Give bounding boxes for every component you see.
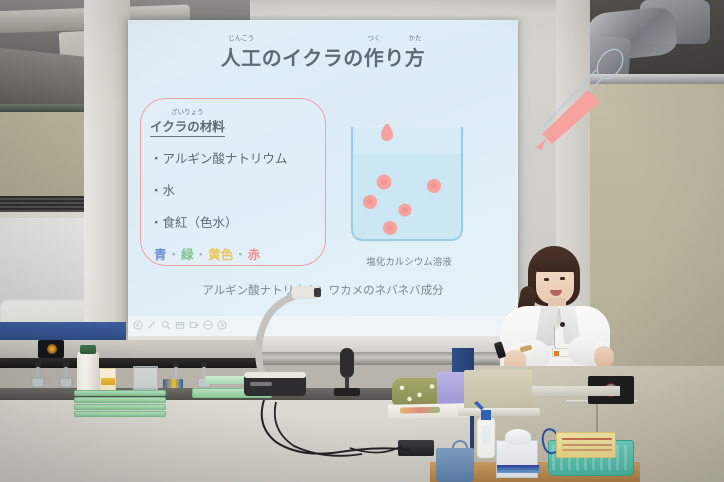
title-segment-1: のイクラの [262,42,364,71]
projection-screen: じんこう 人工 のイクラの つく 作 り かた 方 [128,20,518,336]
title-base-3: り [384,42,405,71]
tray-layer-2 [74,397,166,403]
slide-title: じんこう 人工 のイクラの つく 作 り かた 方 [128,42,518,71]
blue-yellow-package[interactable] [163,379,183,388]
pipette-icon [526,46,636,156]
gas-tap[interactable] [30,362,46,388]
color-label-yellow: 黄色 [208,247,233,262]
powerpoint-show-toolbar[interactable] [130,316,250,334]
ingredient-text-2: 水 [163,183,176,198]
ingredient-item-1: ・アルギン酸ナトリウム [150,148,287,167]
title-segment-3: り [384,42,405,71]
ingredients-heading: ざいりょう イクラの材料 [150,116,225,137]
title-ruby-2: つく [368,32,381,42]
title-base-1: のイクラの [262,42,364,71]
title-ruby-4: かた [409,32,422,42]
zoom-icon[interactable] [161,320,171,330]
cable-bundle [250,396,440,466]
classroom-scene: じんこう 人工 のイクラの つく 作 り かた 方 [0,0,724,482]
beaker-label: 塩化カルシウム溶液 [334,254,484,268]
sign-text-line-2 [562,444,612,446]
color-sep-2: ・ [194,247,209,262]
white-bottle[interactable] [77,352,99,394]
yellow-warning-sign [556,432,616,458]
ingredients-heading-text: イクラの材料 [150,116,225,135]
color-label-red: 赤 [248,247,261,262]
title-segment-2: つく 作 [364,42,385,71]
eye-left [544,278,549,281]
presentation-slide: じんこう 人工 のイクラの つく 作 り かた 方 [128,20,518,316]
pen-icon[interactable] [147,320,157,330]
color-label-blue: 青 [154,247,167,262]
title-ruby-0: じんこう [228,32,254,42]
color-label-green: 緑 [181,247,194,262]
tray-layer-4 [74,411,166,417]
title-segment-4: かた 方 [405,42,426,71]
next-slide-icon[interactable] [217,320,227,330]
beaker-icon [342,124,472,244]
eye-right [560,277,565,280]
bench-blue-strip [0,322,126,342]
hair-fringe [532,252,578,272]
monitor-small[interactable] [38,340,64,358]
document-camera[interactable] [236,286,322,398]
laptop-base [458,408,540,416]
tray-layer-1 [74,390,166,396]
ingredient-bullet-3: ・ [150,215,163,230]
gas-tap-2[interactable] [58,362,74,388]
blue-tool-bag[interactable] [436,448,474,482]
spray-bottle[interactable] [474,400,498,460]
previous-slide-icon[interactable] [133,320,143,330]
ingredients-heading-ruby: ざいりょう [171,106,204,116]
slide-footer-note: アルギン酸ナトリウム：ワカメのネバネバ成分 [128,282,518,298]
ingredient-text-1: アルギン酸ナトリウム [163,151,288,166]
ingredient-item-2: ・水 [150,180,175,199]
bottle-cap[interactable] [80,345,96,354]
more-options-icon[interactable] [203,320,213,330]
slide-thumbnails-icon[interactable] [175,320,185,330]
tray-layer-3 [74,404,166,410]
hand-right [594,346,614,368]
color-sep-3: ・ [233,247,248,262]
ingredient-text-3: 食紅（色水） [163,215,238,230]
tissue-box[interactable] [496,440,538,478]
presenter-view-icon[interactable] [189,320,199,330]
ingredients-heading-ruby-wrap: ざいりょう イクラの材料 [150,116,225,135]
tissue-sheet [505,429,531,445]
sign-text-line-3 [562,449,612,451]
title-segment-0: じんこう 人工 [221,42,262,71]
title-base-2: 作 [364,42,385,71]
green-tray-stack[interactable] [74,390,166,418]
color-options-line: 青・緑・黄色・赤 [154,244,260,263]
ingredient-bullet-2: ・ [150,183,163,198]
color-sep-1: ・ [167,247,182,262]
gas-tap-4[interactable] [196,362,212,388]
title-base-4: 方 [405,42,426,71]
ingredient-bullet-1: ・ [150,151,163,166]
ingredient-item-3: ・食紅（色水） [150,212,238,231]
lapel-microphone-icon [560,322,565,327]
tissue-box-label [497,465,539,473]
title-base-0: 人工 [221,42,262,71]
sign-text-line-1 [562,438,612,440]
microphone-on-stand[interactable] [334,348,360,398]
